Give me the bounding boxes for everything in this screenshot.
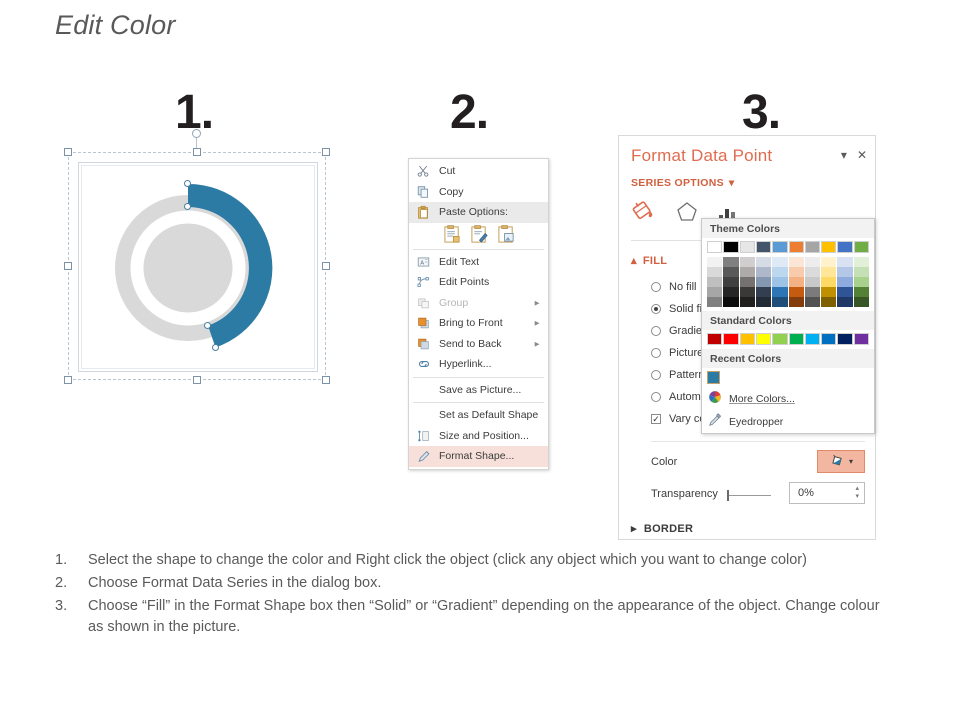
point-handle-bottom-inner[interactable] [204, 322, 211, 329]
color-row[interactable]: Color ▾ [651, 456, 865, 468]
resize-handle-w[interactable] [64, 262, 72, 270]
theme-variant-5-1[interactable] [789, 267, 804, 277]
theme-variant-7-2[interactable] [821, 277, 836, 287]
border-section-header[interactable]: ▸ BORDER [631, 522, 693, 535]
rotation-handle[interactable] [192, 129, 201, 138]
theme-variant-5-2[interactable] [789, 277, 804, 287]
instruction-text: Select the shape to change the color and… [88, 550, 895, 571]
hyperlink-icon [416, 357, 431, 372]
menu-item-label: Format Shape... [439, 450, 514, 462]
radio-pattern-fill[interactable] [651, 370, 661, 380]
clipboard-icon [416, 205, 431, 220]
format-shape-icon [416, 449, 431, 464]
menu-separator [413, 377, 544, 378]
menu-item-label: Size and Position... [439, 430, 529, 442]
size-position-icon [416, 428, 431, 443]
theme-swatch-8[interactable] [837, 241, 852, 253]
theme-variant-7-3[interactable] [821, 287, 836, 297]
theme-variant-column-2[interactable] [740, 257, 755, 307]
fill-section-label: FILL [643, 255, 667, 267]
spinner-down-icon[interactable]: ▾ [855, 493, 859, 501]
theme-variant-column-8[interactable] [837, 257, 852, 307]
group-icon [416, 295, 431, 310]
menu-item-label: Hyperlink... [439, 358, 492, 370]
svg-text:A: A [420, 260, 424, 266]
menu-item-paste-options[interactable]: Paste Options: [409, 202, 548, 223]
more-colors-label: More Colors... [729, 393, 795, 405]
theme-variant-1-3[interactable] [723, 287, 738, 297]
theme-variant-4-2[interactable] [772, 277, 787, 287]
color-picker-button[interactable]: ▾ [817, 450, 865, 473]
theme-variant-6-1[interactable] [805, 267, 820, 277]
standard-swatch-7[interactable] [821, 333, 836, 345]
theme-variant-3-2[interactable] [756, 277, 771, 287]
theme-variant-9-2[interactable] [854, 277, 869, 287]
theme-variant-1-4[interactable] [723, 297, 738, 307]
standard-swatch-1[interactable] [723, 333, 738, 345]
standard-swatch-9[interactable] [854, 333, 869, 345]
theme-variant-9-4[interactable] [854, 297, 869, 307]
standard-colors-row[interactable] [702, 330, 874, 349]
radio-solid-fill[interactable] [651, 304, 661, 314]
edit-points-icon [416, 275, 431, 290]
scissors-icon [416, 164, 431, 179]
theme-variant-7-4[interactable] [821, 297, 836, 307]
theme-variant-column-6[interactable] [805, 257, 820, 307]
radio-automatic[interactable] [651, 392, 661, 402]
empty-icon-slot [416, 382, 431, 397]
instruction-item: 2. Choose Format Data Series in the dial… [55, 573, 895, 594]
theme-variant-3-3[interactable] [756, 287, 771, 297]
paste-keep-source-icon[interactable] [443, 225, 462, 244]
instruction-item: 1. Select the shape to change the color … [55, 550, 895, 571]
eyedropper-label: Eyedropper [729, 416, 783, 428]
resize-handle-e[interactable] [322, 262, 330, 270]
theme-variant-7-1[interactable] [821, 267, 836, 277]
close-icon[interactable]: ✕ [857, 148, 867, 162]
theme-variant-4-4[interactable] [772, 297, 787, 307]
theme-swatch-3[interactable] [756, 241, 771, 253]
menu-item-hyperlink[interactable]: Hyperlink... [409, 354, 548, 375]
theme-variant-0-4[interactable] [707, 297, 722, 307]
recent-colors-header: Recent Colors [702, 349, 874, 368]
theme-variant-0-1[interactable] [707, 267, 722, 277]
menu-item-label: Set as Default Shape [439, 409, 538, 421]
theme-variant-6-2[interactable] [805, 277, 820, 287]
theme-variant-column-9[interactable] [854, 257, 869, 307]
resize-handle-se[interactable] [322, 376, 330, 384]
fill-divider [651, 441, 865, 442]
radio-picture-fill[interactable] [651, 348, 661, 358]
menu-item-label: Bring to Front [439, 317, 503, 329]
standard-swatch-8[interactable] [837, 333, 852, 345]
theme-variant-0-2[interactable] [707, 277, 722, 287]
theme-swatch-4[interactable] [772, 241, 787, 253]
theme-variant-column-5[interactable] [789, 257, 804, 307]
menu-item-label: Edit Points [439, 276, 489, 288]
theme-variant-0-0[interactable] [707, 257, 722, 267]
paint-bucket-icon [829, 453, 846, 470]
standard-swatch-2[interactable] [740, 333, 755, 345]
menu-item-label: Paste Options: [439, 206, 508, 218]
menu-item-edit-points[interactable]: Edit Points [409, 272, 548, 293]
theme-variant-5-0[interactable] [789, 257, 804, 267]
menu-item-group: Group ► [409, 293, 548, 314]
menu-item-edit-text[interactable]: A Edit Text [409, 252, 548, 273]
slide-canvas: Edit Color 1. 2. 3. [0, 0, 960, 720]
theme-colors-header: Theme Colors [702, 219, 874, 238]
fill-bucket-icon[interactable] [631, 198, 657, 229]
step-number-3: 3. [742, 85, 780, 140]
color-caret-icon[interactable]: ▾ [849, 457, 853, 466]
theme-colors-base-row[interactable] [702, 238, 874, 257]
option-label: No fill [669, 281, 697, 293]
transparency-slider[interactable] [729, 495, 771, 496]
theme-variant-5-4[interactable] [789, 297, 804, 307]
color-label: Color [651, 456, 677, 468]
theme-variant-column-1[interactable] [723, 257, 738, 307]
instruction-number: 2. [55, 573, 88, 594]
border-section-label: BORDER [644, 523, 693, 535]
theme-variant-4-0[interactable] [772, 257, 787, 267]
theme-variant-6-4[interactable] [805, 297, 820, 307]
menu-item-format-shape[interactable]: Format Shape... [409, 446, 548, 467]
donut-chart[interactable] [100, 178, 300, 358]
menu-item-copy[interactable]: Copy [409, 182, 548, 203]
series-options-dropdown[interactable]: SERIES OPTIONS ▾ [631, 177, 734, 189]
edit-text-icon: A [416, 254, 431, 269]
panel-title: Format Data Point [631, 146, 772, 166]
series-options-label: SERIES OPTIONS [631, 177, 724, 189]
menu-item-set-as-default-shape[interactable]: Set as Default Shape [409, 405, 548, 426]
menu-item-label: Cut [439, 165, 455, 177]
theme-variant-5-3[interactable] [789, 287, 804, 297]
donut-chart-svg [100, 178, 300, 358]
theme-variant-6-0[interactable] [805, 257, 820, 267]
theme-variant-8-2[interactable] [837, 277, 852, 287]
transparency-label: Transparency [651, 488, 718, 500]
standard-colors-header: Standard Colors [702, 311, 874, 330]
theme-variant-2-2[interactable] [740, 277, 755, 287]
instruction-text: Choose “Fill” in the Format Shape box th… [88, 596, 895, 638]
theme-variant-column-0[interactable] [707, 257, 722, 307]
checkbox-vary-colors[interactable]: ✓ [651, 414, 661, 424]
point-handle-bottom-outer[interactable] [212, 344, 219, 351]
theme-variant-0-3[interactable] [707, 287, 722, 297]
empty-icon-slot [416, 408, 431, 423]
theme-variant-7-0[interactable] [821, 257, 836, 267]
menu-item-cut[interactable]: Cut [409, 161, 548, 182]
menu-item-label: Save as Picture... [439, 384, 521, 396]
menu-item-bring-to-front[interactable]: Bring to Front ► [409, 313, 548, 334]
standard-swatch-3[interactable] [756, 333, 771, 345]
resize-handle-nw[interactable] [64, 148, 72, 156]
theme-variant-3-0[interactable] [756, 257, 771, 267]
theme-variant-1-0[interactable] [723, 257, 738, 267]
point-handle-top-outer[interactable] [184, 180, 191, 187]
shape-selection-panel [62, 148, 334, 386]
recent-colors-row[interactable] [702, 368, 874, 387]
eyedropper-item[interactable]: Eyedropper [702, 410, 874, 433]
theme-swatch-2[interactable] [740, 241, 755, 253]
standard-swatch-4[interactable] [772, 333, 787, 345]
theme-variant-3-4[interactable] [756, 297, 771, 307]
eyedropper-icon [708, 413, 722, 430]
theme-swatch-0[interactable] [707, 241, 722, 253]
instruction-text: Choose Format Data Series in the dialog … [88, 573, 895, 594]
color-picker-dropdown[interactable]: Theme Colors Standard Colors Recent Colo… [701, 218, 875, 434]
theme-variant-1-2[interactable] [723, 277, 738, 287]
instruction-item: 3. Choose “Fill” in the Format Shape box… [55, 596, 895, 638]
theme-variant-column-7[interactable] [821, 257, 836, 307]
transparency-value: 0% [798, 487, 814, 499]
theme-swatch-6[interactable] [805, 241, 820, 253]
theme-variant-8-3[interactable] [837, 287, 852, 297]
more-colors-item[interactable]: More Colors... [702, 387, 874, 410]
theme-variant-1-1[interactable] [723, 267, 738, 277]
resize-handle-sw[interactable] [64, 376, 72, 384]
theme-variant-2-0[interactable] [740, 257, 755, 267]
theme-colors-variants[interactable] [702, 257, 874, 311]
step-number-2: 2. [450, 85, 488, 140]
theme-variant-2-3[interactable] [740, 287, 755, 297]
menu-item-label: Copy [439, 186, 464, 198]
standard-swatch-0[interactable] [707, 333, 722, 345]
submenu-arrow-icon: ► [533, 339, 541, 348]
recent-swatch-0[interactable] [707, 371, 720, 384]
theme-variant-9-0[interactable] [854, 257, 869, 267]
theme-variant-column-3[interactable] [756, 257, 771, 307]
standard-swatch-5[interactable] [789, 333, 804, 345]
menu-separator [413, 402, 544, 403]
menu-separator [413, 249, 544, 250]
effects-pentagon-icon[interactable] [675, 200, 699, 229]
menu-item-label: Group [439, 297, 468, 309]
radio-gradient-fill[interactable] [651, 326, 661, 336]
color-wheel-icon [708, 390, 722, 407]
menu-item-save-as-picture[interactable]: Save as Picture... [409, 380, 548, 401]
theme-swatch-5[interactable] [789, 241, 804, 253]
bring-front-icon [416, 316, 431, 331]
theme-variant-4-3[interactable] [772, 287, 787, 297]
transparency-input[interactable]: 0% ▴ ▾ [789, 482, 865, 504]
paste-options-row[interactable] [409, 223, 548, 247]
theme-swatch-1[interactable] [723, 241, 738, 253]
standard-swatch-6[interactable] [805, 333, 820, 345]
point-handle-top-inner[interactable] [184, 203, 191, 210]
instruction-number: 3. [55, 596, 88, 638]
paste-picture-icon[interactable] [497, 225, 516, 244]
page-title: Edit Color [55, 10, 176, 41]
theme-variant-2-1[interactable] [740, 267, 755, 277]
fill-section-header[interactable]: ▴ FILL [631, 254, 667, 267]
theme-variant-2-4[interactable] [740, 297, 755, 307]
submenu-arrow-icon: ► [533, 319, 541, 328]
spinner-arrows[interactable]: ▴ ▾ [855, 485, 859, 501]
expand-caret-icon: ▴ [631, 254, 637, 267]
resize-handle-ne[interactable] [322, 148, 330, 156]
theme-variant-9-1[interactable] [854, 267, 869, 277]
transparency-row[interactable]: Transparency 0% ▴ ▾ [651, 488, 865, 500]
resize-handle-n[interactable] [193, 148, 201, 156]
theme-variant-column-4[interactable] [772, 257, 787, 307]
theme-swatch-7[interactable] [821, 241, 836, 253]
theme-variant-9-3[interactable] [854, 287, 869, 297]
theme-variant-4-1[interactable] [772, 267, 787, 277]
send-back-icon [416, 336, 431, 351]
panel-menu-caret-icon[interactable]: ▾ [841, 148, 847, 162]
paste-theme-icon[interactable] [470, 225, 489, 244]
theme-variant-8-1[interactable] [837, 267, 852, 277]
instruction-number: 1. [55, 550, 88, 571]
menu-item-send-to-back[interactable]: Send to Back ► [409, 334, 548, 355]
theme-variant-8-4[interactable] [837, 297, 852, 307]
menu-item-size-and-position[interactable]: Size and Position... [409, 426, 548, 447]
radio-no-fill[interactable] [651, 282, 661, 292]
theme-variant-8-0[interactable] [837, 257, 852, 267]
spinner-up-icon[interactable]: ▴ [855, 485, 859, 493]
resize-handle-s[interactable] [193, 376, 201, 384]
donut-inner-disc [144, 224, 232, 312]
chevron-down-icon: ▾ [729, 177, 735, 189]
theme-swatch-9[interactable] [854, 241, 869, 253]
submenu-arrow-icon: ► [533, 298, 541, 307]
panel-controls[interactable]: ▾ ✕ [841, 148, 867, 162]
copy-icon [416, 184, 431, 199]
collapse-caret-icon: ▸ [631, 522, 637, 535]
theme-variant-3-1[interactable] [756, 267, 771, 277]
context-menu[interactable]: Cut Copy Paste Options: [408, 158, 549, 470]
theme-variant-6-3[interactable] [805, 287, 820, 297]
menu-item-label: Send to Back [439, 338, 501, 350]
instruction-list: 1. Select the shape to change the color … [55, 550, 895, 640]
menu-item-label: Edit Text [439, 256, 479, 268]
